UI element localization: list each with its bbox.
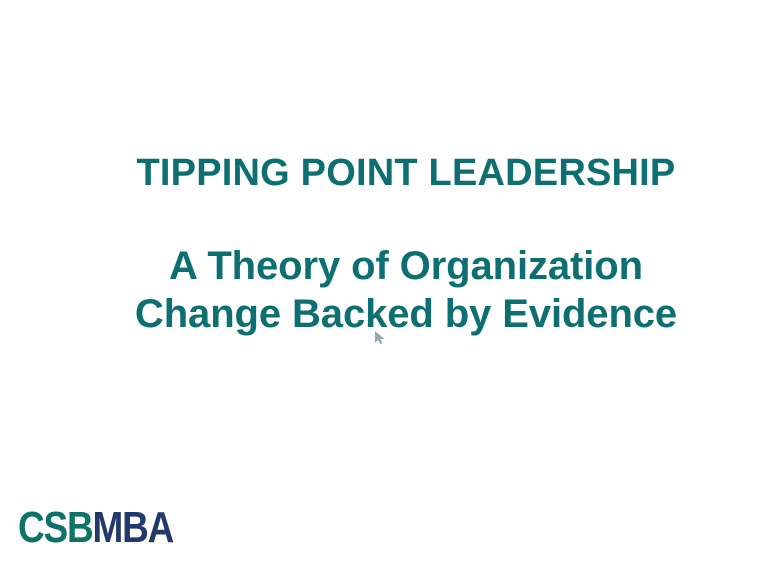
presentation-slide: TIPPING POINT LEADERSHIP A Theory of Org… [0, 0, 768, 576]
subtitle-line-1: A Theory of Organization [64, 242, 748, 290]
logo-text-csb: CSB [18, 503, 93, 552]
subtitle-block: A Theory of Organization Change Backed b… [64, 242, 748, 338]
page-title: TIPPING POINT LEADERSHIP [64, 150, 748, 196]
logo-text-mba: MBA [93, 503, 174, 552]
title-block: TIPPING POINT LEADERSHIP A Theory of Org… [64, 150, 748, 338]
csbmba-logo: CSBMBA [18, 506, 173, 550]
subtitle-line-2: Change Backed by Evidence [64, 290, 748, 338]
title-spacer [64, 196, 748, 242]
